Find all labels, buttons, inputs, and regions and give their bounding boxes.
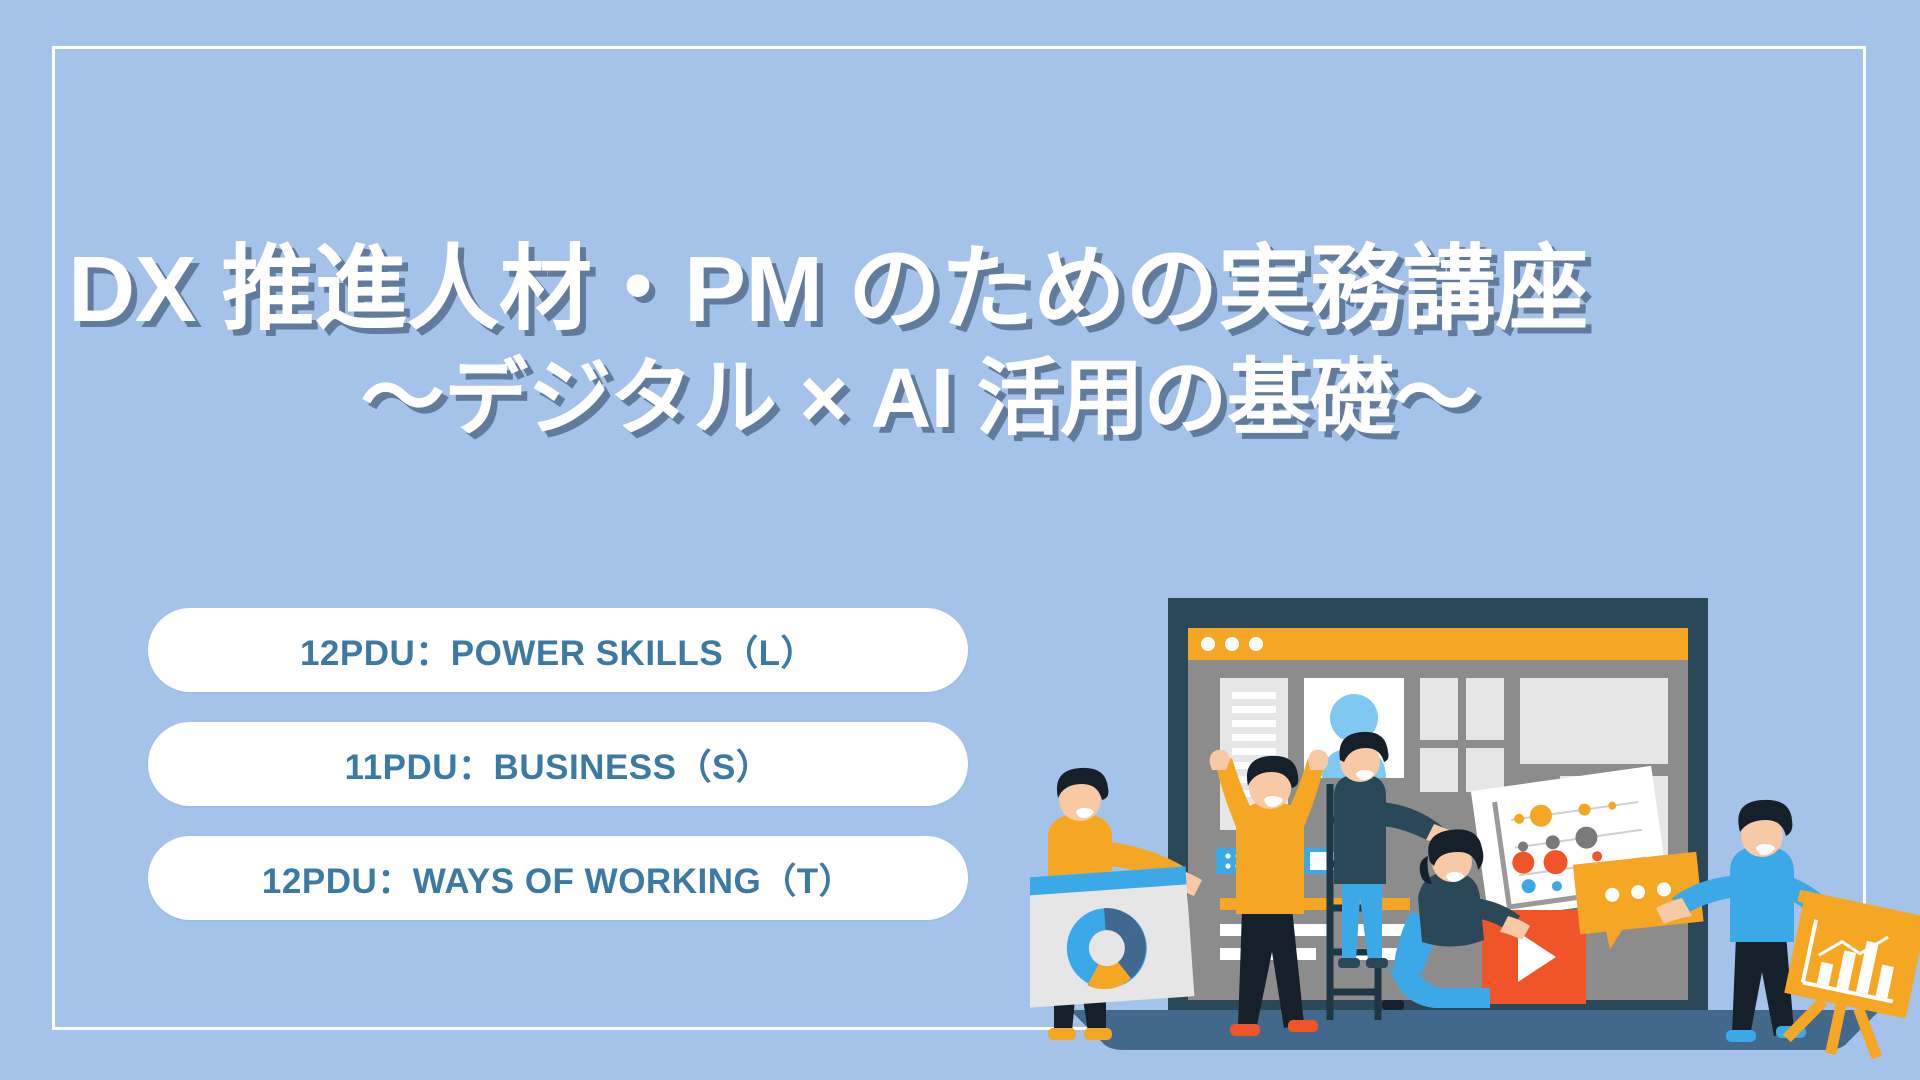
pdu-badge-group: 12PDU：POWER SKILLS（L） 11PDU：BUSINESS（S） … — [148, 608, 968, 950]
window-dot-icon — [1249, 637, 1263, 651]
pdu-badge-label: 12PDU：WAYS OF WORKING（T） — [262, 853, 854, 904]
pdu-badge-power-skills[interactable]: 12PDU：POWER SKILLS（L） — [148, 608, 968, 692]
pdu-badge-ways-of-working[interactable]: 12PDU：WAYS OF WORKING（T） — [148, 836, 968, 920]
window-dot-icon — [1201, 637, 1215, 651]
window-dot-icon — [1225, 637, 1239, 651]
pdu-badge-label: 11PDU：BUSINESS（S） — [345, 739, 772, 790]
headline-block: DX 推進人材・PM のための実務講座 〜デジタル × AI 活用の基礎〜 — [0, 236, 1920, 447]
slide-root: DX 推進人材・PM のための実務講座 〜デジタル × AI 活用の基礎〜 12… — [0, 0, 1920, 1080]
page-subtitle: 〜デジタル × AI 活用の基礎〜 — [68, 350, 1920, 447]
pdu-badge-business[interactable]: 11PDU：BUSINESS（S） — [148, 722, 968, 806]
laptop-base-icon — [1070, 1010, 1880, 1050]
pdu-badge-label: 12PDU：POWER SKILLS（L） — [300, 625, 816, 676]
donut-chart-card-icon — [1030, 866, 1194, 1007]
page-title: DX 推進人材・PM のための実務講座 — [68, 236, 1920, 344]
team-building-dashboard-illustration — [1030, 580, 1920, 1080]
